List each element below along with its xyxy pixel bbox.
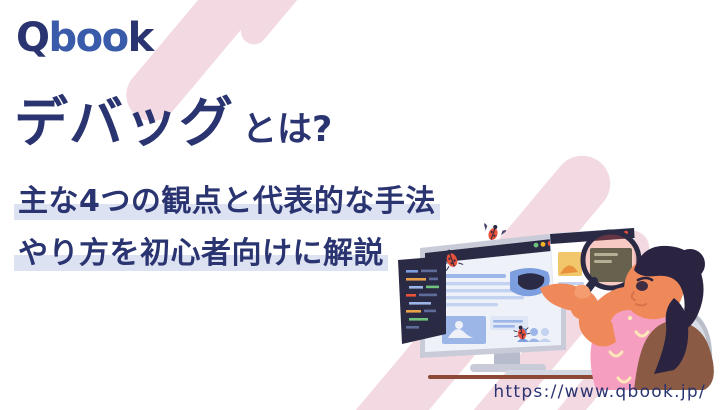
subtitle-row-2: やり方を初心者向けに解説 — [14, 238, 484, 272]
banner-root: Qbook デバッグ とは? 主な4つの観点と代表的な手法 やり方を初心者向けに… — [0, 0, 720, 410]
subtitle-line-2: やり方を初心者向けに解説 — [14, 238, 388, 272]
logo-letters-boo: boo — [49, 15, 128, 61]
logo-letter-k: k — [128, 15, 153, 61]
subtitle-row-1: 主な4つの観点と代表的な手法 — [14, 186, 484, 220]
title-main-text: デバッグ — [14, 96, 234, 150]
title-suffix-text: とは? — [242, 113, 332, 148]
qbook-logo[interactable]: Qbook — [16, 18, 153, 58]
subtitle-line-1: 主な4つの観点と代表的な手法 — [14, 186, 440, 220]
headline-block: デバッグ とは? 主な4つの観点と代表的な手法 やり方を初心者向けに解説 — [14, 96, 484, 271]
logo-letter-q: Q — [16, 15, 49, 61]
site-url[interactable]: https://www.qbook.jp/ — [493, 382, 706, 402]
stripe-decoration — [236, 0, 359, 50]
page-title: デバッグ とは? — [14, 96, 484, 150]
